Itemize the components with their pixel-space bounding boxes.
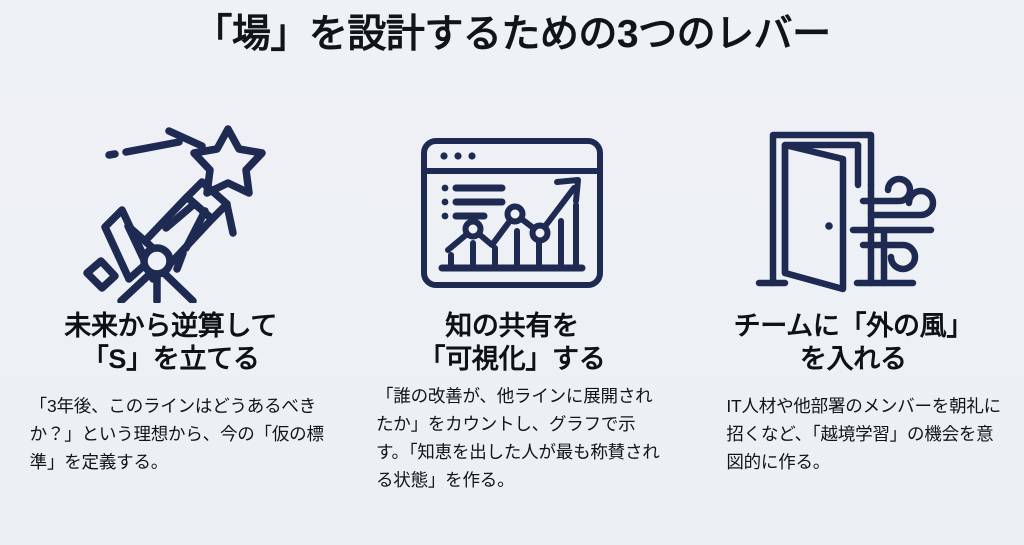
- open-door-wind-icon: [753, 118, 953, 308]
- lever-column-1: 未来から逆算して 「S」を立てる 「3年後、このラインはどうあるべきか？」という…: [0, 118, 341, 476]
- lever-body-1: 「3年後、このラインはどうあるべきか？」という理想から、今の「仮の標準」を定義す…: [16, 392, 326, 476]
- lever-heading-3: チームに「外の風」 を入れる: [734, 310, 974, 376]
- lever-body-2: 「誰の改善が、他ラインに展開されたか」をカウントし、グラフで示す。「知恵を出した…: [358, 382, 666, 494]
- lever-body-3: IT人材や他部署のメンバーを朝礼に招くなど、「越境学習」の機会を意図的に作る。: [697, 392, 1009, 476]
- slide-canvas: 「場」を設計するための3つのレバー: [0, 0, 1024, 545]
- lever-heading-2: 知の共有を 「可視化」する: [419, 310, 606, 376]
- lever-heading-1: 未来から逆算して 「S」を立てる: [64, 310, 277, 376]
- lever-columns: 未来から逆算して 「S」を立てる 「3年後、このラインはどうあるべきか？」という…: [0, 118, 1024, 494]
- page-title: 「場」を設計するための3つのレバー: [0, 12, 1024, 58]
- lever-column-2: 知の共有を 「可視化」する 「誰の改善が、他ラインに展開されたか」をカウントし、…: [341, 118, 682, 494]
- telescope-star-icon: [71, 118, 271, 308]
- lever-column-3: チームに「外の風」 を入れる IT人材や他部署のメンバーを朝礼に招くなど、「越境…: [683, 118, 1024, 476]
- browser-growth-chart-icon: [414, 118, 610, 308]
